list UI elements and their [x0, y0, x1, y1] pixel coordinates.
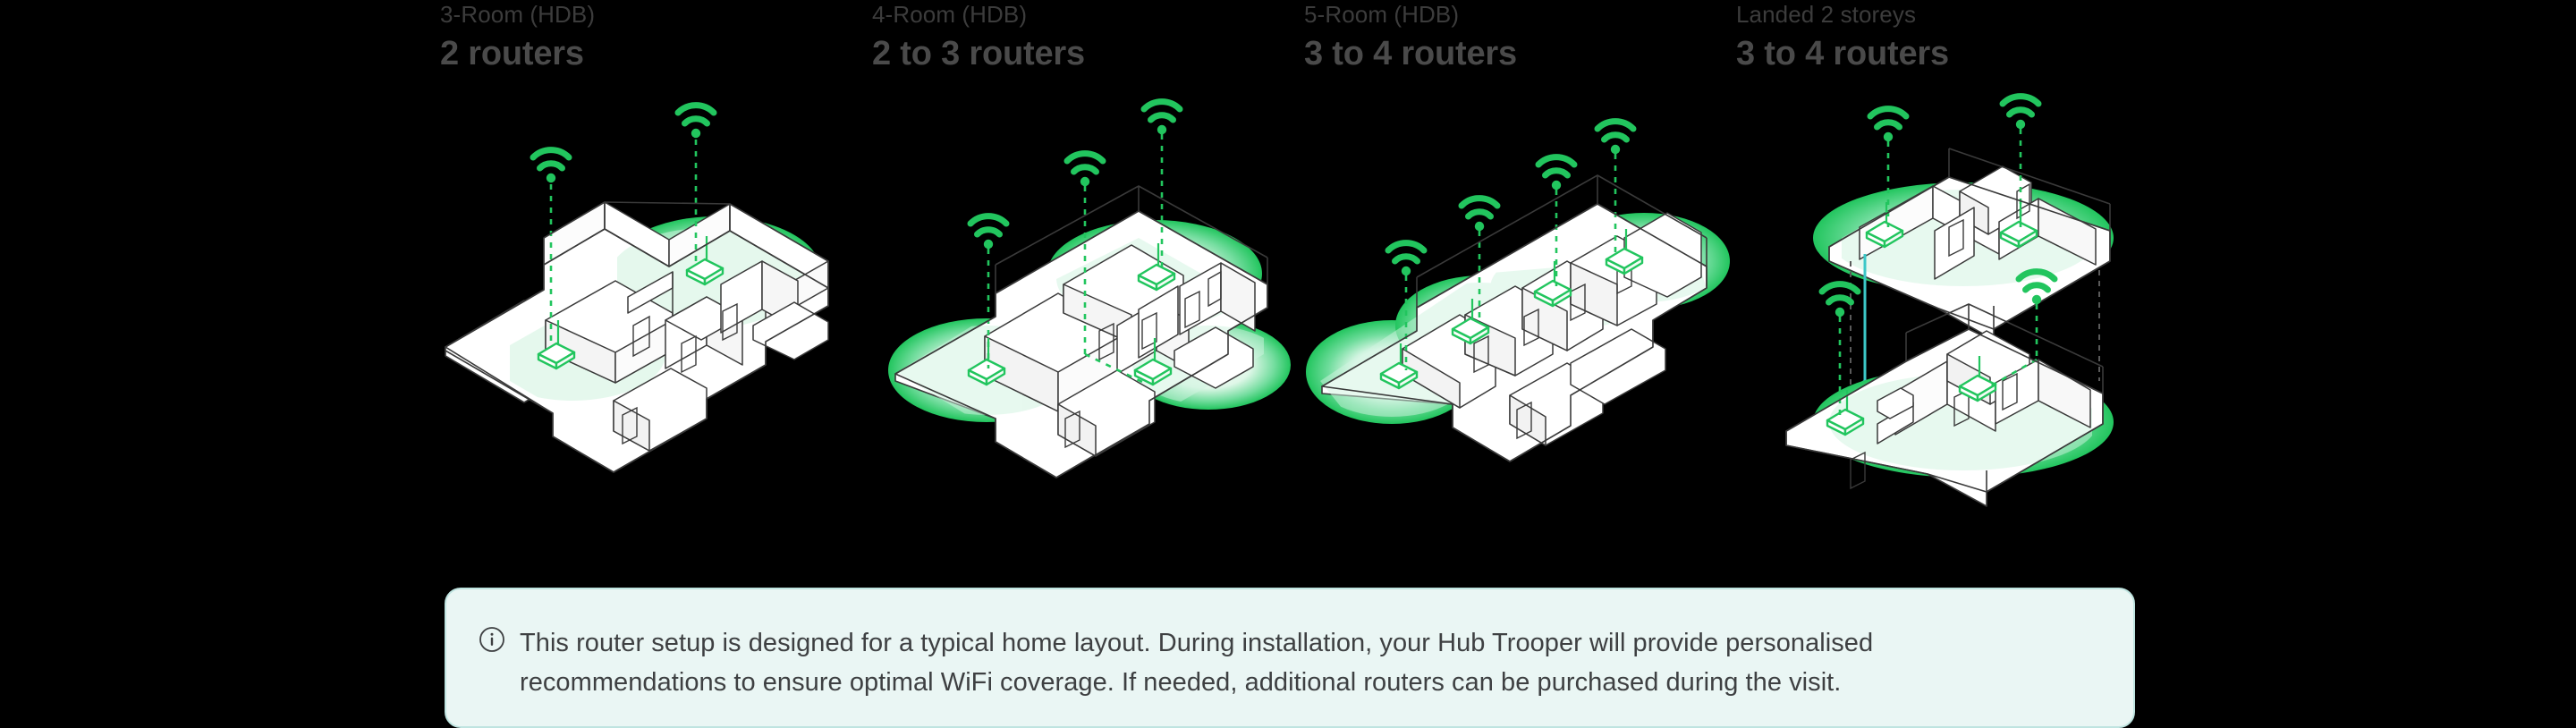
plan-card-eyebrow: 5-Room (HDB): [1302, 0, 1734, 29]
plan-card-4-room-hdb[interactable]: 4-Room (HDB) 2 to 3 routers: [870, 0, 1302, 554]
plan-card-title: 3 to 4 routers: [1734, 32, 2166, 75]
router-coverage-page: 3-Room (HDB) 2 routers: [0, 0, 2576, 728]
info-notice-text: This router setup is designed for a typi…: [520, 623, 2067, 702]
info-circle-icon: [479, 626, 505, 653]
isometric-floorplan-5room-icon: [1302, 86, 1734, 533]
plan-card-3-room-hdb[interactable]: 3-Room (HDB) 2 routers: [438, 0, 870, 554]
isometric-floorplan-landed-2storey-icon: [1734, 86, 2166, 533]
plan-card-title: 2 routers: [438, 32, 870, 75]
plan-card-eyebrow: Landed 2 storeys: [1734, 0, 2166, 29]
plan-card-landed-2-storeys[interactable]: Landed 2 storeys 3 to 4 routers: [1734, 0, 2166, 554]
plan-card-title: 2 to 3 routers: [870, 32, 1302, 75]
plan-card-title: 3 to 4 routers: [1302, 32, 1734, 75]
isometric-floorplan-3room-icon: [438, 86, 870, 533]
plan-card-eyebrow: 3-Room (HDB): [438, 0, 870, 29]
plan-card-eyebrow: 4-Room (HDB): [870, 0, 1302, 29]
plan-card-list: 3-Room (HDB) 2 routers: [438, 0, 2138, 554]
plan-card-5-room-hdb[interactable]: 5-Room (HDB) 3 to 4 routers: [1302, 0, 1734, 554]
info-notice-banner: This router setup is designed for a typi…: [445, 588, 2135, 728]
isometric-floorplan-4room-icon: [870, 86, 1302, 533]
